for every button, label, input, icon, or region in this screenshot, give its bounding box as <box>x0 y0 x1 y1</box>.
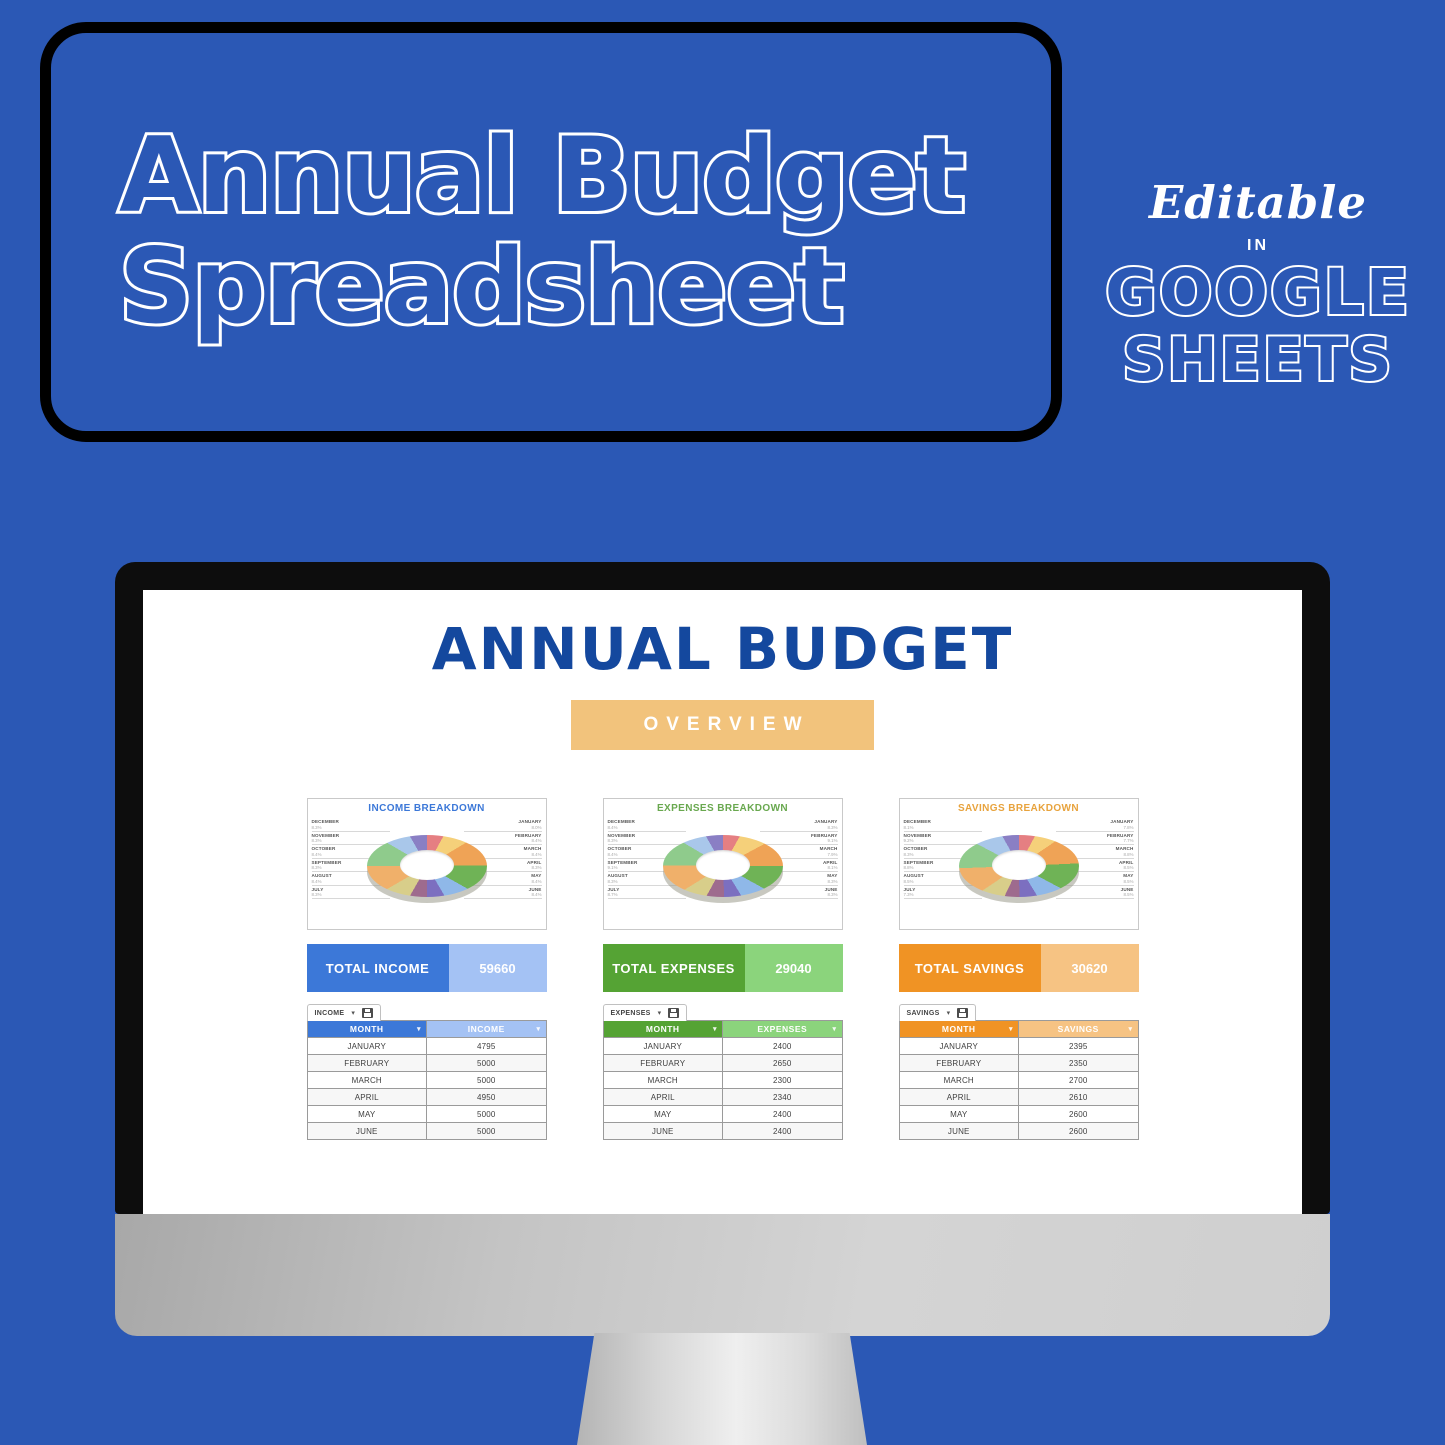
chevron-down-icon[interactable]: ▾ <box>832 1025 836 1033</box>
table-row[interactable]: MAY 2600 <box>899 1106 1138 1123</box>
chevron-down-icon[interactable]: ▾ <box>1128 1025 1132 1033</box>
cell-value[interactable]: 5000 <box>427 1106 547 1123</box>
cell-month[interactable]: APRIL <box>603 1089 723 1106</box>
cell-value[interactable]: 4795 <box>427 1038 547 1055</box>
cell-value[interactable]: 2400 <box>723 1038 843 1055</box>
table-row[interactable]: APRIL 2610 <box>899 1089 1138 1106</box>
cell-month[interactable]: FEBRUARY <box>603 1055 723 1072</box>
table-row[interactable]: MARCH 2300 <box>603 1072 842 1089</box>
cell-month[interactable]: MARCH <box>899 1072 1019 1089</box>
cell-value[interactable]: 2350 <box>1019 1055 1139 1072</box>
cell-value[interactable]: 2600 <box>1019 1123 1139 1140</box>
cell-month[interactable]: JUNE <box>899 1123 1019 1140</box>
editable-script-text: Editable <box>1082 180 1434 225</box>
column-header-value[interactable]: EXPENSES▾ <box>723 1021 843 1038</box>
filter-view-icon[interactable] <box>362 1008 373 1018</box>
total-label: TOTAL INCOME <box>307 944 449 992</box>
table-row[interactable]: JUNE 2600 <box>899 1123 1138 1140</box>
filter-view-icon[interactable] <box>668 1008 679 1018</box>
table-row[interactable]: JUNE 2400 <box>603 1123 842 1140</box>
monitor-stand-neck <box>577 1333 867 1445</box>
total-row-expenses: TOTAL EXPENSES 29040 <box>603 944 843 992</box>
cell-value[interactable]: 2340 <box>723 1089 843 1106</box>
data-table-expenses: MONTH▾ EXPENSES▾ JANUARY 2400 FEBRUARY 2… <box>603 1020 843 1140</box>
table-row[interactable]: JANUARY 2400 <box>603 1038 842 1055</box>
page-title: ANNUAL BUDGET <box>163 620 1282 678</box>
total-value: 29040 <box>745 944 843 992</box>
cell-value[interactable]: 2300 <box>723 1072 843 1089</box>
donut-hole <box>400 850 454 880</box>
cell-value[interactable]: 4950 <box>427 1089 547 1106</box>
filter-tab-label: INCOME <box>315 1010 345 1017</box>
data-table-savings: MONTH▾ SAVINGS▾ JANUARY 2395 FEBRUARY 23… <box>899 1020 1139 1140</box>
hero-title-line-1: Annual Budget <box>119 124 1051 229</box>
chart-body: DECEMBER 8.3% NOVEMBER 8.3% OCTOBER 8.4%… <box>310 815 544 927</box>
table-row[interactable]: JUNE 5000 <box>307 1123 546 1140</box>
editable-google-text: GOOGLE <box>1082 261 1434 326</box>
column-header-month[interactable]: MONTH▾ <box>307 1021 427 1038</box>
cell-value[interactable]: 5000 <box>427 1055 547 1072</box>
table-header-row: MONTH▾ EXPENSES▾ <box>603 1021 842 1038</box>
editable-in-text: IN <box>1082 237 1434 255</box>
table-row[interactable]: FEBRUARY 5000 <box>307 1055 546 1072</box>
chevron-down-icon[interactable]: ▾ <box>713 1025 717 1033</box>
panels-container: INCOME BREAKDOWN DECEMBER 8.3% NOVEMBER … <box>163 798 1282 1140</box>
editable-sheets-text: SHEETS <box>1082 330 1434 392</box>
panel-expenses: EXPENSES BREAKDOWN DECEMBER 8.4% NOVEMBE… <box>603 798 843 1140</box>
table-row[interactable]: JANUARY 2395 <box>899 1038 1138 1055</box>
table-row[interactable]: MAY 5000 <box>307 1106 546 1123</box>
chart-title: EXPENSES BREAKDOWN <box>606 803 840 814</box>
filter-tab-label: SAVINGS <box>907 1010 940 1017</box>
total-value: 59660 <box>449 944 547 992</box>
cell-month[interactable]: FEBRUARY <box>307 1055 427 1072</box>
cell-value[interactable]: 5000 <box>427 1072 547 1089</box>
chart-body: DECEMBER 8.4% NOVEMBER 8.3% OCTOBER 8.4%… <box>606 815 840 927</box>
table-header-row: MONTH▾ INCOME▾ <box>307 1021 546 1038</box>
chart-card-expenses: EXPENSES BREAKDOWN DECEMBER 8.4% NOVEMBE… <box>603 798 843 930</box>
donut-chart-savings <box>959 827 1079 915</box>
cell-value[interactable]: 2650 <box>723 1055 843 1072</box>
cell-month[interactable]: MAY <box>307 1106 427 1123</box>
table-row[interactable]: JANUARY 4795 <box>307 1038 546 1055</box>
panel-savings: SAVINGS BREAKDOWN DECEMBER 8.1% NOVEMBER… <box>899 798 1139 1140</box>
chart-card-income: INCOME BREAKDOWN DECEMBER 8.3% NOVEMBER … <box>307 798 547 930</box>
table-row[interactable]: MAY 2400 <box>603 1106 842 1123</box>
cell-month[interactable]: MAY <box>603 1106 723 1123</box>
column-header-value[interactable]: INCOME▾ <box>427 1021 547 1038</box>
cell-value[interactable]: 2400 <box>723 1123 843 1140</box>
cell-month[interactable]: JANUARY <box>603 1038 723 1055</box>
page-subtitle-banner: OVERVIEW <box>571 700 873 750</box>
panel-income: INCOME BREAKDOWN DECEMBER 8.3% NOVEMBER … <box>307 798 547 1140</box>
cell-month[interactable]: MARCH <box>307 1072 427 1089</box>
total-row-income: TOTAL INCOME 59660 <box>307 944 547 992</box>
spreadsheet-overview: ANNUAL BUDGET OVERVIEW INCOME BREAKDOWN … <box>143 590 1302 1140</box>
donut-hole <box>696 850 750 880</box>
chevron-down-icon[interactable]: ▾ <box>536 1025 540 1033</box>
monitor-bezel: ANNUAL BUDGET OVERVIEW INCOME BREAKDOWN … <box>115 562 1330 1214</box>
table-row[interactable]: MARCH 5000 <box>307 1072 546 1089</box>
donut-chart-income <box>367 827 487 915</box>
table-row[interactable]: APRIL 2340 <box>603 1089 842 1106</box>
chevron-down-icon[interactable]: ▾ <box>947 1009 951 1017</box>
chart-title: INCOME BREAKDOWN <box>310 803 544 814</box>
chevron-down-icon[interactable]: ▾ <box>658 1009 662 1017</box>
cell-month[interactable]: FEBRUARY <box>899 1055 1019 1072</box>
chart-card-savings: SAVINGS BREAKDOWN DECEMBER 8.1% NOVEMBER… <box>899 798 1139 930</box>
table-header-row: MONTH▾ SAVINGS▾ <box>899 1021 1138 1038</box>
filter-tab-income[interactable]: INCOME ▾ <box>307 1004 381 1021</box>
cell-value[interactable]: 2395 <box>1019 1038 1139 1055</box>
chart-body: DECEMBER 8.1% NOVEMBER 9.2% OCTOBER 8.3%… <box>902 815 1136 927</box>
filter-tab-savings[interactable]: SAVINGS ▾ <box>899 1004 977 1021</box>
filter-tab-expenses[interactable]: EXPENSES ▾ <box>603 1004 688 1021</box>
table-row[interactable]: FEBRUARY 2650 <box>603 1055 842 1072</box>
table-row[interactable]: FEBRUARY 2350 <box>899 1055 1138 1072</box>
cell-month[interactable]: MARCH <box>603 1072 723 1089</box>
chart-title: SAVINGS BREAKDOWN <box>902 803 1136 814</box>
donut-hole <box>992 850 1046 880</box>
cell-value[interactable]: 2700 <box>1019 1072 1139 1089</box>
data-table-income: MONTH▾ INCOME▾ JANUARY 4795 FEBRUARY 500… <box>307 1020 547 1140</box>
column-header-value[interactable]: SAVINGS▾ <box>1019 1021 1139 1038</box>
total-label: TOTAL EXPENSES <box>603 944 745 992</box>
cell-month[interactable]: JUNE <box>307 1123 427 1140</box>
editable-badge: Editable IN GOOGLE SHEETS <box>1082 180 1434 392</box>
total-row-savings: TOTAL SAVINGS 30620 <box>899 944 1139 992</box>
column-header-month[interactable]: MONTH▾ <box>603 1021 723 1038</box>
cell-month[interactable]: JANUARY <box>899 1038 1019 1055</box>
cell-month[interactable]: APRIL <box>307 1089 427 1106</box>
cell-value[interactable]: 2600 <box>1019 1106 1139 1123</box>
cell-value[interactable]: 2610 <box>1019 1089 1139 1106</box>
table-row[interactable]: APRIL 4950 <box>307 1089 546 1106</box>
donut-chart-expenses <box>663 827 783 915</box>
cell-value[interactable]: 5000 <box>427 1123 547 1140</box>
cell-month[interactable]: JANUARY <box>307 1038 427 1055</box>
chevron-down-icon[interactable]: ▾ <box>417 1025 421 1033</box>
monitor-stand-base <box>115 1214 1330 1336</box>
chevron-down-icon[interactable]: ▾ <box>1009 1025 1013 1033</box>
table-row[interactable]: MARCH 2700 <box>899 1072 1138 1089</box>
hero-title-line-2: Spreadsheet <box>119 235 1051 340</box>
hero-title-panel: Annual Budget Spreadsheet <box>40 22 1062 442</box>
total-label: TOTAL SAVINGS <box>899 944 1041 992</box>
cell-month[interactable]: MAY <box>899 1106 1019 1123</box>
cell-month[interactable]: APRIL <box>899 1089 1019 1106</box>
monitor-screen: ANNUAL BUDGET OVERVIEW INCOME BREAKDOWN … <box>143 590 1302 1214</box>
filter-view-icon[interactable] <box>957 1008 968 1018</box>
chevron-down-icon[interactable]: ▾ <box>351 1009 355 1017</box>
column-header-month[interactable]: MONTH▾ <box>899 1021 1019 1038</box>
cell-month[interactable]: JUNE <box>603 1123 723 1140</box>
total-value: 30620 <box>1041 944 1139 992</box>
cell-value[interactable]: 2400 <box>723 1106 843 1123</box>
filter-tab-label: EXPENSES <box>611 1010 651 1017</box>
